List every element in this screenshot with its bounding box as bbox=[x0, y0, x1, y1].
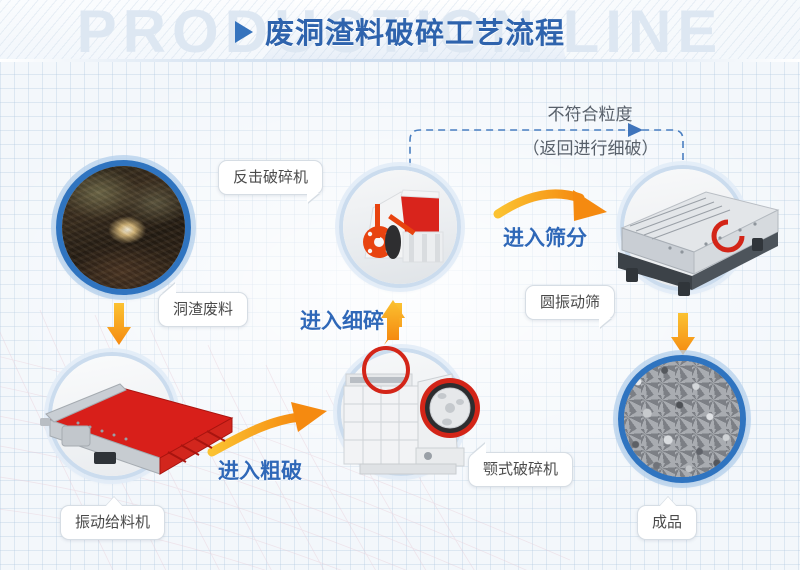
node-vibrating-feeder[interactable] bbox=[48, 352, 176, 480]
header-title-group: 废洞渣料破碎工艺流程 bbox=[0, 0, 800, 62]
finished-gravel-photo bbox=[624, 361, 740, 477]
node-vibrating-screen[interactable] bbox=[620, 165, 746, 291]
bubble-tail bbox=[307, 193, 319, 203]
node-impact-crusher[interactable] bbox=[339, 166, 461, 288]
vibrating-feeder-photo-bg bbox=[52, 356, 172, 476]
label-jaw-crusher-text: 颚式破碎机 bbox=[483, 461, 558, 478]
label-raw-material[interactable]: 洞渣废料 bbox=[158, 292, 248, 327]
bubble-tail bbox=[473, 443, 486, 454]
play-triangle-icon bbox=[235, 21, 253, 43]
vibrating-screen-photo-bg bbox=[624, 169, 742, 287]
tunnel-slag-photo bbox=[62, 166, 185, 289]
label-vibrating-feeder-text: 振动给料机 bbox=[75, 514, 150, 531]
label-vibrating-feeder[interactable]: 振动给料机 bbox=[60, 505, 165, 540]
label-impact-crusher[interactable]: 反击破碎机 bbox=[218, 160, 323, 195]
bubble-tail bbox=[599, 318, 611, 328]
page-title: 废洞渣料破碎工艺流程 bbox=[265, 10, 565, 52]
label-vibrating-screen[interactable]: 圆振动筛 bbox=[525, 285, 615, 320]
node-jaw-crusher[interactable] bbox=[337, 348, 465, 476]
step-label-to-screening: 进入筛分 bbox=[503, 222, 587, 252]
step-label-to-coarse-crushing: 进入粗破 bbox=[218, 455, 302, 485]
feedback-loop-text-line2: （返回进行细破） bbox=[483, 134, 698, 159]
label-vibrating-screen-text: 圆振动筛 bbox=[540, 294, 600, 311]
impact-crusher-photo bbox=[343, 170, 457, 284]
feedback-loop-text-line1: 不符合粒度 bbox=[495, 100, 685, 125]
node-raw-material[interactable] bbox=[56, 160, 191, 295]
page-header: PRODUCTION LINE 废洞渣料破碎工艺流程 bbox=[0, 0, 800, 62]
bubble-tail bbox=[659, 497, 677, 507]
bubble-tail bbox=[105, 497, 123, 507]
step-label-to-fine-crushing: 进入细碎 bbox=[300, 305, 384, 335]
node-finished-product[interactable] bbox=[618, 355, 746, 483]
label-finished-product-text: 成品 bbox=[652, 514, 682, 531]
jaw-crusher-photo-bg bbox=[341, 352, 461, 472]
label-raw-material-text: 洞渣废料 bbox=[173, 301, 233, 318]
label-jaw-crusher[interactable]: 颚式破碎机 bbox=[468, 452, 573, 487]
bubble-tail bbox=[163, 283, 176, 294]
header-divider bbox=[0, 59, 800, 62]
process-flow-diagram: PRODUCTION LINE 废洞渣料破碎工艺流程 bbox=[0, 0, 800, 570]
label-finished-product[interactable]: 成品 bbox=[637, 505, 697, 540]
label-impact-crusher-text: 反击破碎机 bbox=[233, 169, 308, 186]
